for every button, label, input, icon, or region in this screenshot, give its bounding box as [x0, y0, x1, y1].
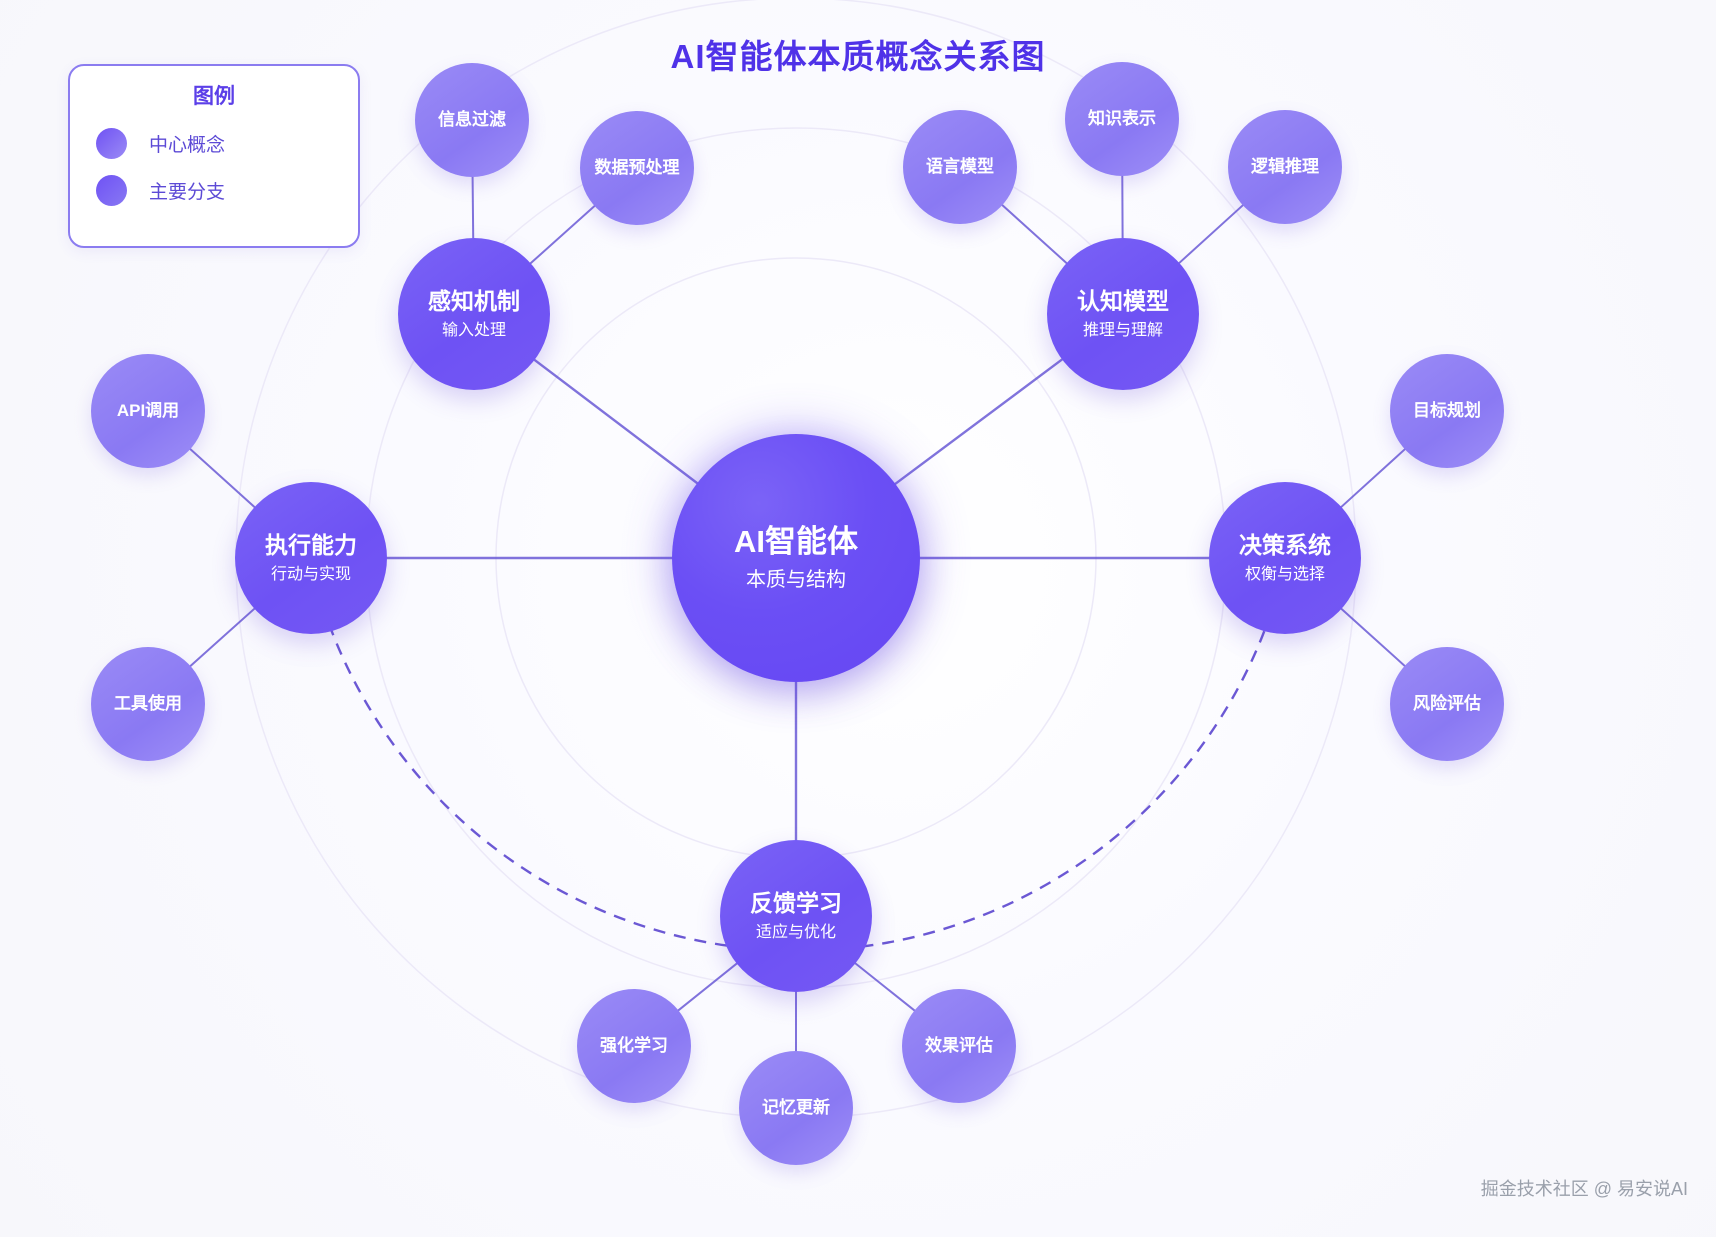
node-branch-execution[interactable]: 执行能力行动与实现: [235, 482, 387, 634]
node-leaf-risk-assess[interactable]: 风险评估: [1390, 647, 1504, 761]
node-leaf-data-preprocess[interactable]: 数据预处理: [580, 111, 694, 225]
legend-label-branch: 主要分支: [149, 177, 225, 204]
node-leaf-data-preprocess-label: 数据预处理: [595, 158, 680, 178]
link-feedback-rl-learning: [678, 964, 736, 1011]
node-branch-feedback-sublabel: 适应与优化: [756, 923, 836, 942]
node-leaf-rl-learning[interactable]: 强化学习: [577, 989, 691, 1103]
node-leaf-effect-eval-label: 效果评估: [925, 1036, 993, 1056]
node-branch-execution-label: 执行能力: [265, 532, 357, 558]
node-leaf-memory-update[interactable]: 记忆更新: [739, 1051, 853, 1165]
node-leaf-api-call-label: API调用: [117, 401, 179, 421]
node-branch-perception-sublabel: 输入处理: [442, 321, 506, 340]
node-leaf-api-call[interactable]: API调用: [91, 354, 205, 468]
node-branch-decision-sublabel: 权衡与选择: [1245, 565, 1325, 584]
legend-item-center: 中心概念: [70, 124, 358, 163]
node-leaf-tool-use-label: 工具使用: [114, 694, 182, 714]
node-branch-execution-sublabel: 行动与实现: [271, 565, 351, 584]
legend-dot-center-icon: [96, 128, 127, 159]
node-leaf-logic-reasoning[interactable]: 逻辑推理: [1228, 110, 1342, 224]
node-branch-decision[interactable]: 决策系统权衡与选择: [1209, 482, 1361, 634]
node-leaf-info-filter[interactable]: 信息过滤: [415, 63, 529, 177]
legend-dot-branch-icon: [96, 175, 127, 206]
node-leaf-risk-assess-label: 风险评估: [1413, 694, 1481, 714]
watermark: 掘金技术社区 @ 易安说AI: [1481, 1175, 1688, 1201]
node-center-ai-agent[interactable]: AI智能体本质与结构: [672, 434, 920, 682]
node-center-ai-agent-label: AI智能体: [734, 524, 858, 560]
node-leaf-info-filter-label: 信息过滤: [438, 110, 506, 130]
node-branch-cognition[interactable]: 认知模型推理与理解: [1047, 238, 1199, 390]
link-center-cognition: [895, 359, 1062, 483]
node-branch-feedback-label: 反馈学习: [750, 890, 842, 916]
node-leaf-logic-reasoning-label: 逻辑推理: [1251, 157, 1319, 177]
node-leaf-language-model[interactable]: 语言模型: [903, 110, 1017, 224]
node-leaf-memory-update-label: 记忆更新: [762, 1098, 830, 1118]
legend-title: 图例: [70, 80, 358, 110]
node-leaf-knowledge-repr-label: 知识表示: [1088, 109, 1156, 129]
node-leaf-tool-use[interactable]: 工具使用: [91, 647, 205, 761]
link-center-perception: [535, 360, 698, 483]
node-branch-perception[interactable]: 感知机制输入处理: [398, 238, 550, 390]
link-cognition-language-model: [1002, 205, 1066, 263]
node-center-ai-agent-sublabel: 本质与结构: [746, 568, 846, 592]
diagram-canvas: AI智能体本质概念关系图 图例 中心概念 主要分支 信息过滤数据预处理语言模型知…: [0, 0, 1716, 1237]
node-leaf-rl-learning-label: 强化学习: [600, 1036, 668, 1056]
node-leaf-goal-planning-label: 目标规划: [1413, 401, 1481, 421]
node-branch-feedback[interactable]: 反馈学习适应与优化: [720, 840, 872, 992]
node-leaf-goal-planning[interactable]: 目标规划: [1390, 354, 1504, 468]
link-cognition-logic-reasoning: [1179, 205, 1243, 263]
link-perception-data-preprocess: [531, 206, 595, 263]
node-leaf-effect-eval[interactable]: 效果评估: [902, 989, 1016, 1103]
node-branch-cognition-label: 认知模型: [1077, 288, 1169, 314]
node-branch-decision-label: 决策系统: [1239, 532, 1331, 558]
node-branch-cognition-sublabel: 推理与理解: [1083, 321, 1163, 340]
legend-panel: 图例 中心概念 主要分支: [68, 64, 360, 248]
link-perception-info-filter: [473, 177, 474, 238]
legend-item-branch: 主要分支: [70, 171, 358, 210]
node-branch-perception-label: 感知机制: [428, 288, 520, 314]
node-leaf-language-model-label: 语言模型: [926, 157, 994, 177]
node-leaf-knowledge-repr[interactable]: 知识表示: [1065, 62, 1179, 176]
legend-label-center: 中心概念: [149, 130, 225, 157]
link-feedback-effect-eval: [855, 963, 914, 1010]
